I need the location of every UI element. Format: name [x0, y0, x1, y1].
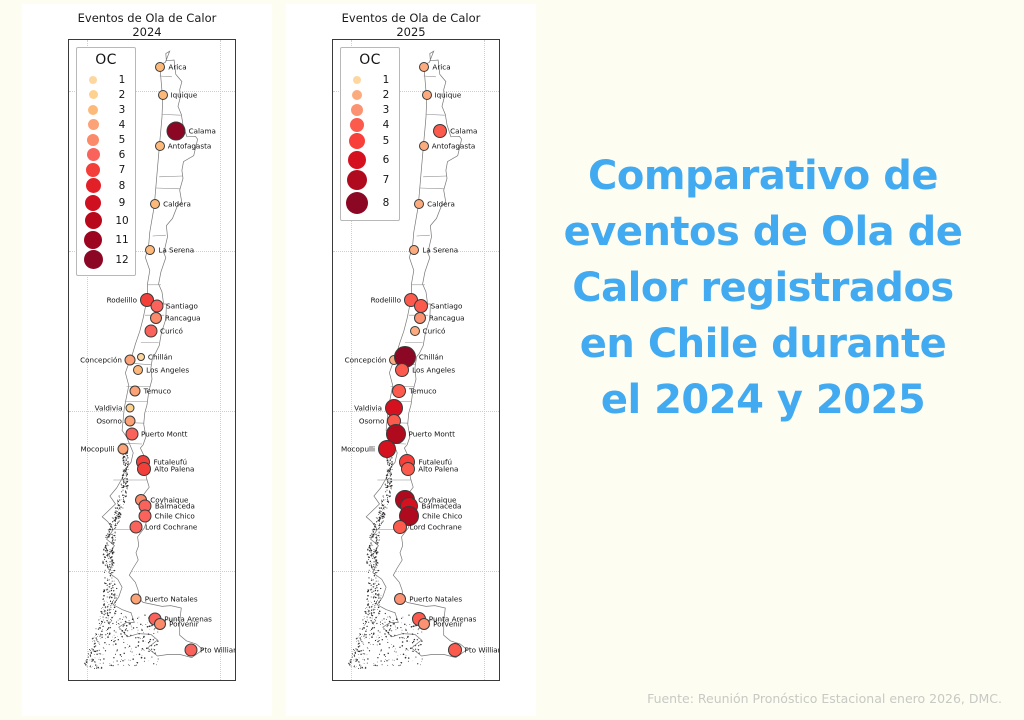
city-label: Santiago — [166, 302, 198, 311]
data-point-la-serena — [409, 245, 419, 255]
legend-label: 12 — [109, 254, 135, 266]
x-tick-label: −77 — [337, 680, 364, 681]
axes-2024: AricaIquiqueCalamaAntofagastaCalderaLa S… — [68, 39, 236, 681]
city-label: Chile Chico — [422, 512, 462, 521]
legend-label: 3 — [109, 104, 135, 116]
legend-swatch-cell — [77, 105, 109, 115]
legend-title: OC — [341, 52, 399, 68]
legend-swatch-cell — [77, 250, 109, 269]
city-label: Chile Chico — [155, 512, 195, 521]
legend-swatch-cell — [341, 118, 373, 132]
data-point-iquique — [422, 90, 432, 100]
city-label: Rancagua — [429, 313, 465, 322]
city-label: La Serena — [158, 245, 194, 254]
legend-title: OC — [77, 52, 135, 68]
data-point-chillán — [137, 353, 145, 361]
city-label: Lord Cochrane — [410, 523, 462, 532]
legend-swatch-cell — [341, 151, 373, 169]
legend-swatch — [85, 212, 102, 229]
legend-swatch-cell — [77, 212, 109, 229]
city-label: Curicó — [423, 326, 446, 335]
legend-row[interactable]: 2 — [77, 87, 135, 102]
legend-swatch — [86, 163, 100, 177]
figure-2025: Eventos de Ola de Calor 2025 AricaIquiqu… — [286, 4, 536, 716]
legend-swatch — [349, 133, 365, 149]
legend-swatch — [347, 170, 367, 190]
y-tick-label: −50 — [68, 564, 69, 579]
legend-row[interactable]: 5 — [77, 132, 135, 147]
data-point-mocopulli — [118, 443, 129, 454]
legend-swatch — [353, 76, 361, 84]
city-label: Caldera — [427, 200, 455, 209]
city-label: Puerto Montt — [141, 429, 187, 438]
data-point-calama — [433, 124, 447, 138]
slide-canvas: Eventos de Ola de Calor 2024 AricaIquiqu… — [0, 0, 1024, 720]
legend-swatch-cell — [341, 192, 373, 214]
data-point-chile-chico — [139, 510, 152, 523]
city-label: Antofagasta — [168, 142, 212, 151]
legend-swatch-cell — [341, 170, 373, 190]
legend-label: 8 — [109, 180, 135, 192]
legend-label: 5 — [109, 134, 135, 146]
legend-row[interactable]: 3 — [77, 102, 135, 117]
legend-swatch — [88, 119, 99, 130]
city-label: Puerto Natales — [145, 594, 198, 603]
data-point-santiago — [150, 300, 163, 313]
legend-swatch — [89, 76, 97, 84]
city-label: Los Angeles — [412, 365, 455, 374]
legend-row[interactable]: 5 — [341, 133, 399, 151]
city-label: Concepción — [345, 356, 387, 365]
legend-swatch-cell — [77, 178, 109, 193]
legend-swatch — [84, 250, 103, 269]
data-point-alto-palena — [137, 462, 151, 476]
y-tick-label: −40 — [332, 404, 333, 419]
data-point-antofagasta — [419, 141, 429, 151]
legend-swatch-cell — [77, 134, 109, 146]
legend-swatch-cell — [77, 76, 109, 84]
city-label: Caldera — [163, 200, 191, 209]
y-tick-label: −50 — [332, 564, 333, 579]
city-label: Arica — [168, 62, 186, 71]
city-label: Temuco — [409, 387, 437, 396]
city-label: Mocopulli — [341, 444, 375, 453]
city-label: Rancagua — [165, 313, 201, 322]
legend-label: 4 — [373, 119, 399, 131]
legend-row[interactable]: 1 — [77, 72, 135, 87]
city-label: Alto Palena — [418, 465, 458, 474]
city-label: Rodelillo — [371, 296, 401, 305]
legend-swatch-cell — [77, 195, 109, 211]
city-label: Iquique — [435, 90, 462, 99]
city-label: Concepción — [80, 356, 122, 365]
legend-oc[interactable]: OC12345678 — [340, 47, 400, 221]
legend-swatch — [350, 118, 364, 132]
y-tick-label: −30 — [68, 244, 69, 259]
data-point-curicó — [410, 326, 420, 336]
legend-label: 4 — [109, 119, 135, 131]
source-caption: Fuente: Reunión Pronóstico Estacional en… — [647, 691, 1002, 706]
data-point-arica — [155, 62, 165, 72]
legend-row[interactable]: 9 — [77, 194, 135, 212]
legend-row[interactable]: 11 — [77, 230, 135, 250]
city-label: Iquique — [171, 90, 198, 99]
data-point-concepción — [125, 355, 136, 366]
legend-row[interactable]: 3 — [341, 102, 399, 117]
y-tick-label: −30 — [332, 244, 333, 259]
legend-row[interactable]: 10 — [77, 212, 135, 231]
city-label: Santiago — [431, 302, 463, 311]
city-label: Valdivia — [354, 404, 382, 413]
legend-row[interactable]: 4 — [77, 117, 135, 132]
figure-2024-title: Eventos de Ola de Calor 2024 — [22, 12, 272, 39]
legend-label: 6 — [373, 154, 399, 166]
city-label: Arica — [432, 62, 450, 71]
legend-swatch-cell — [77, 231, 109, 249]
data-point-arica — [419, 62, 429, 72]
data-point-lord-cochrane — [393, 520, 407, 534]
city-label: Calama — [189, 127, 216, 136]
data-point-mocopulli — [378, 440, 396, 458]
data-point-los-angeles — [395, 363, 409, 377]
axes-2025: AricaIquiqueCalamaAntofagastaCalderaLa S… — [332, 39, 500, 681]
legend-row[interactable]: 7 — [77, 162, 135, 178]
city-label: Chillán — [148, 352, 173, 361]
city-label: Puerto Natales — [409, 594, 462, 603]
city-label: Puerto Montt — [409, 429, 455, 438]
city-label: Valdivia — [95, 404, 123, 413]
legend-swatch-cell — [341, 90, 373, 100]
legend-label: 8 — [373, 197, 399, 209]
data-point-pto-williams — [448, 643, 462, 657]
legend-swatch — [352, 90, 362, 100]
legend-label: 10 — [109, 215, 135, 227]
legend-swatch — [351, 104, 363, 116]
figure-2025-title: Eventos de Ola de Calor 2025 — [286, 12, 536, 39]
data-point-iquique — [158, 90, 168, 100]
city-label: Chillán — [419, 352, 444, 361]
legend-row[interactable]: 8 — [77, 178, 135, 195]
legend-swatch — [87, 148, 100, 161]
city-label: Curicó — [160, 326, 183, 335]
city-label: Temuco — [144, 387, 172, 396]
city-label: Balmaceda — [155, 501, 195, 510]
legend-row[interactable]: 2 — [341, 87, 399, 102]
y-tick-label: −20 — [68, 84, 69, 99]
data-point-temuco — [130, 386, 141, 397]
legend-label: 7 — [373, 174, 399, 186]
y-tick-label: −20 — [332, 84, 333, 99]
legend-swatch-cell — [77, 119, 109, 130]
x-tick-label: −77 — [73, 680, 100, 681]
legend-label: 5 — [373, 135, 399, 147]
legend-swatch-cell — [77, 163, 109, 177]
city-label: Porvenir — [169, 620, 199, 629]
data-point-caldera — [414, 199, 424, 209]
legend-swatch — [346, 192, 368, 214]
data-point-rancagua — [414, 312, 426, 324]
city-label: Osorno — [96, 416, 122, 425]
city-label: Pto Williams — [200, 646, 236, 655]
legend-swatch-cell — [341, 133, 373, 149]
data-point-temuco — [392, 384, 406, 398]
headline-text: Comparativo de eventos de Ola de Calor r… — [548, 148, 978, 428]
data-point-calama — [167, 122, 186, 141]
legend-label: 11 — [109, 234, 135, 246]
data-point-lord-cochrane — [129, 521, 142, 534]
city-label: Rodelillo — [107, 296, 137, 305]
legend-label: 2 — [373, 89, 399, 101]
legend-label: 1 — [109, 74, 135, 86]
city-label: Lord Cochrane — [145, 523, 197, 532]
legend-swatch — [89, 90, 98, 99]
city-label: Antofagasta — [432, 142, 476, 151]
data-point-la-serena — [145, 245, 155, 255]
legend-swatch-cell — [77, 90, 109, 99]
legend-row[interactable]: 6 — [341, 150, 399, 170]
city-label: Alto Palena — [154, 465, 194, 474]
city-label: Mocopulli — [80, 444, 114, 453]
city-label: La Serena — [422, 245, 458, 254]
legend-row[interactable]: 6 — [77, 147, 135, 162]
legend-label: 9 — [109, 197, 135, 209]
x-tick-label: −65 — [470, 680, 497, 681]
legend-label: 6 — [109, 149, 135, 161]
legend-swatch-cell — [77, 148, 109, 161]
data-point-rancagua — [150, 312, 162, 324]
legend-row[interactable]: 7 — [341, 170, 399, 192]
city-label: Porvenir — [433, 620, 463, 629]
data-point-curicó — [144, 324, 157, 337]
legend-row[interactable]: 4 — [341, 117, 399, 133]
data-point-puerto-natales — [394, 593, 406, 605]
city-label: Pto Williams — [465, 646, 501, 655]
data-point-caldera — [150, 199, 160, 209]
legend-swatch — [87, 134, 99, 146]
legend-row[interactable]: 8 — [341, 191, 399, 215]
data-point-los-angeles — [133, 365, 143, 375]
data-point-alto-palena — [401, 462, 415, 476]
legend-swatch — [348, 151, 366, 169]
data-point-puerto-montt — [125, 427, 138, 440]
data-point-puerto-natales — [131, 593, 142, 604]
x-tick-label: −65 — [206, 680, 233, 681]
city-label: Los Angeles — [146, 365, 189, 374]
legend-label: 3 — [373, 104, 399, 116]
legend-oc[interactable]: OC123456789101112 — [76, 47, 136, 276]
legend-label: 2 — [109, 89, 135, 101]
figure-2024: Eventos de Ola de Calor 2024 AricaIquiqu… — [22, 4, 272, 716]
legend-row[interactable]: 1 — [341, 72, 399, 87]
data-point-pto-williams — [184, 644, 197, 657]
city-label: Balmaceda — [421, 501, 461, 510]
legend-swatch — [86, 178, 101, 193]
data-point-antofagasta — [155, 141, 165, 151]
data-point-osorno — [125, 415, 136, 426]
y-tick-label: −40 — [68, 404, 69, 419]
city-label: Calama — [450, 127, 477, 136]
legend-swatch — [85, 195, 101, 211]
legend-swatch-cell — [341, 76, 373, 84]
legend-swatch-cell — [341, 104, 373, 116]
legend-label: 7 — [109, 164, 135, 176]
data-point-valdivia — [126, 404, 135, 413]
city-label: Osorno — [359, 416, 385, 425]
legend-swatch — [84, 231, 102, 249]
legend-row[interactable]: 12 — [77, 250, 135, 271]
legend-label: 1 — [373, 74, 399, 86]
legend-swatch — [88, 105, 98, 115]
